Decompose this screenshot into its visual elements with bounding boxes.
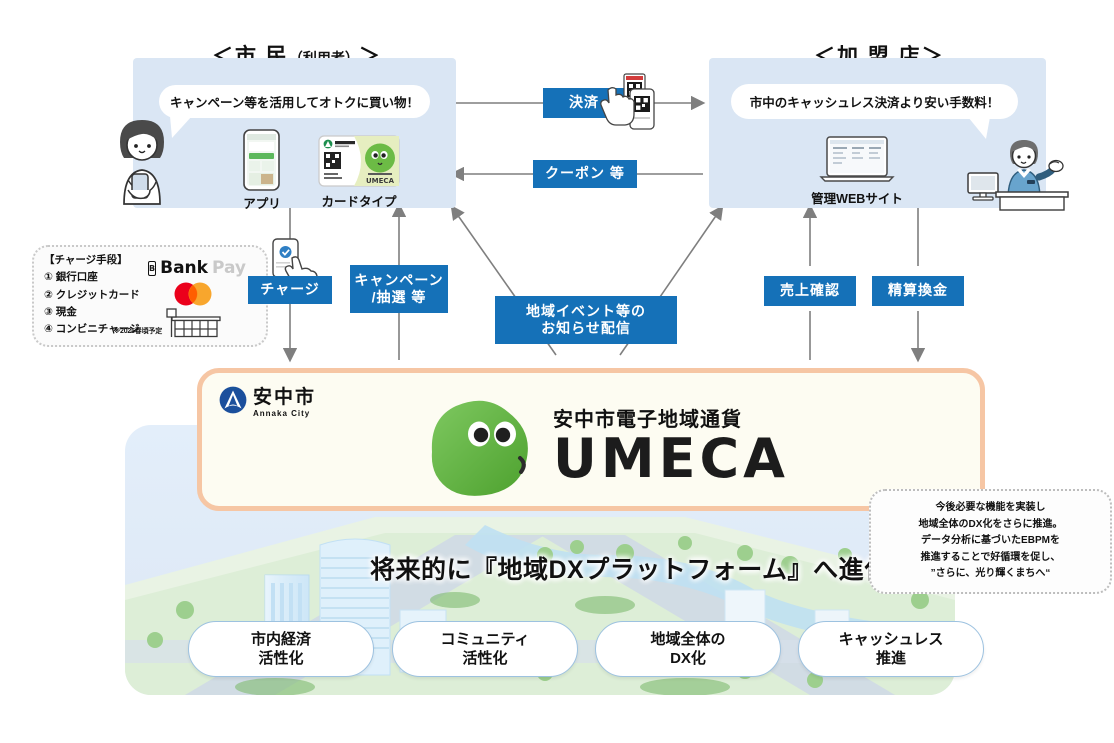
umeca-wordmark: UMECA	[553, 432, 789, 486]
outcome-pill-1-line2: 活性化	[258, 649, 303, 669]
outcome-pill-1: 市内経済 活性化	[188, 621, 374, 677]
flow-label-event-notice-line2: お知らせ配信	[541, 320, 631, 338]
merchant-speech-bubble: 市中のキャッシュレス決済より安い手数料！	[731, 84, 1018, 119]
annaka-city-logo-icon	[219, 386, 247, 414]
mastercard-icon	[168, 282, 218, 306]
outcome-pill-4: キャッシュレス 推進	[798, 621, 984, 677]
merchant-staff-illustration	[960, 133, 1072, 211]
merchant-admin-web-icon	[821, 136, 893, 184]
flow-label-campaign-line2: /抽選 等	[372, 289, 427, 307]
flow-label-charge-text: チャージ	[260, 281, 320, 299]
annaka-city-name-en: Annaka City	[253, 409, 310, 418]
citizen-card-caption: カードタイプ	[318, 191, 400, 210]
flow-label-payment-text: 決済	[569, 94, 599, 112]
outcome-pill-1-line1: 市内経済	[251, 630, 311, 650]
charge-method-item-2: ② クレジットカード	[44, 287, 174, 304]
future-vision-note-line-3: データ分析に基づいたEBPMを	[921, 533, 1060, 550]
flow-label-sales-confirm-text: 売上確認	[780, 282, 840, 300]
flow-label-coupon-text: クーポン 等	[545, 165, 625, 183]
merchant-bubble-text: 市中のキャッシュレス決済より安い手数料！	[750, 92, 1000, 111]
flow-label-settlement: 精算換金	[872, 276, 964, 306]
future-vision-note-line-5: ”さらに、光り輝くまちへ“	[931, 566, 1051, 583]
flow-label-charge: チャージ	[248, 276, 332, 304]
merchant-admin-web-caption: 管理WEBサイト	[810, 188, 904, 207]
future-vision-note: 今後必要な機能を実装し 地域全体のDX化をさらに推進。 データ分析に基づいたEB…	[869, 489, 1112, 594]
outcome-pill-4-line2: 推進	[876, 649, 906, 669]
outcome-pill-2-line1: コミュニティ	[440, 630, 529, 650]
svg-text:UMECA: UMECA	[366, 177, 395, 185]
future-vision-note-line-1: 今後必要な機能を実装し	[936, 500, 1046, 517]
outcome-pill-4-line1: キャッシュレス	[839, 630, 944, 650]
qr-payment-scan-icon	[600, 72, 656, 132]
convenience-store-icon	[165, 307, 223, 339]
citizen-card-type-icon: UMECA	[318, 135, 400, 187]
flow-label-event-notice: 地域イベント等の お知らせ配信	[495, 296, 677, 344]
bankpay-pay-text: Pay	[212, 258, 246, 278]
citizen-person-illustration	[108, 118, 182, 210]
flow-label-campaign: キャンペーン /抽選 等	[350, 265, 448, 313]
outcome-pill-2-line2: 活性化	[462, 649, 507, 669]
bankpay-mark-icon: B	[148, 261, 156, 276]
citizen-speech-bubble: キャンペーン等を活用してオトクに買い物！	[159, 85, 430, 118]
flow-label-sales-confirm: 売上確認	[764, 276, 856, 306]
outcome-pill-3-line1: 地域全体の	[650, 630, 725, 650]
citizen-bubble-text: キャンペーン等を活用してオトクに買い物！	[170, 92, 419, 111]
flow-label-coupon: クーポン 等	[533, 160, 637, 188]
bankpay-bank-text: Bank	[160, 258, 208, 278]
flow-label-settlement-text: 精算換金	[888, 282, 948, 300]
charge-methods-note: ※2025春頃予定	[74, 326, 162, 336]
flow-label-campaign-line1: キャンペーン	[354, 272, 443, 290]
charge-method-item-3: ③ 現金	[44, 304, 174, 321]
evolution-title: 将来的に『地域DXプラットフォーム』へ進化	[370, 550, 889, 586]
citizen-app-caption: アプリ	[233, 193, 291, 212]
future-vision-note-line-2: 地域全体のDX化をさらに推進。	[919, 517, 1063, 534]
citizen-app-phone-icon	[243, 129, 280, 191]
outcome-pill-3: 地域全体の DX化	[595, 621, 781, 677]
annaka-city-name-ja: 安中市	[253, 388, 316, 407]
umeca-mascot-icon	[424, 398, 548, 498]
future-vision-note-line-4: 推進することで好循環を促し、	[921, 550, 1061, 567]
outcome-pill-2: コミュニティ 活性化	[392, 621, 578, 677]
flow-label-event-notice-line1: 地域イベント等の	[526, 303, 646, 321]
outcome-pill-3-line2: DX化	[670, 649, 706, 669]
bankpay-logo: B Bank Pay	[148, 258, 236, 278]
